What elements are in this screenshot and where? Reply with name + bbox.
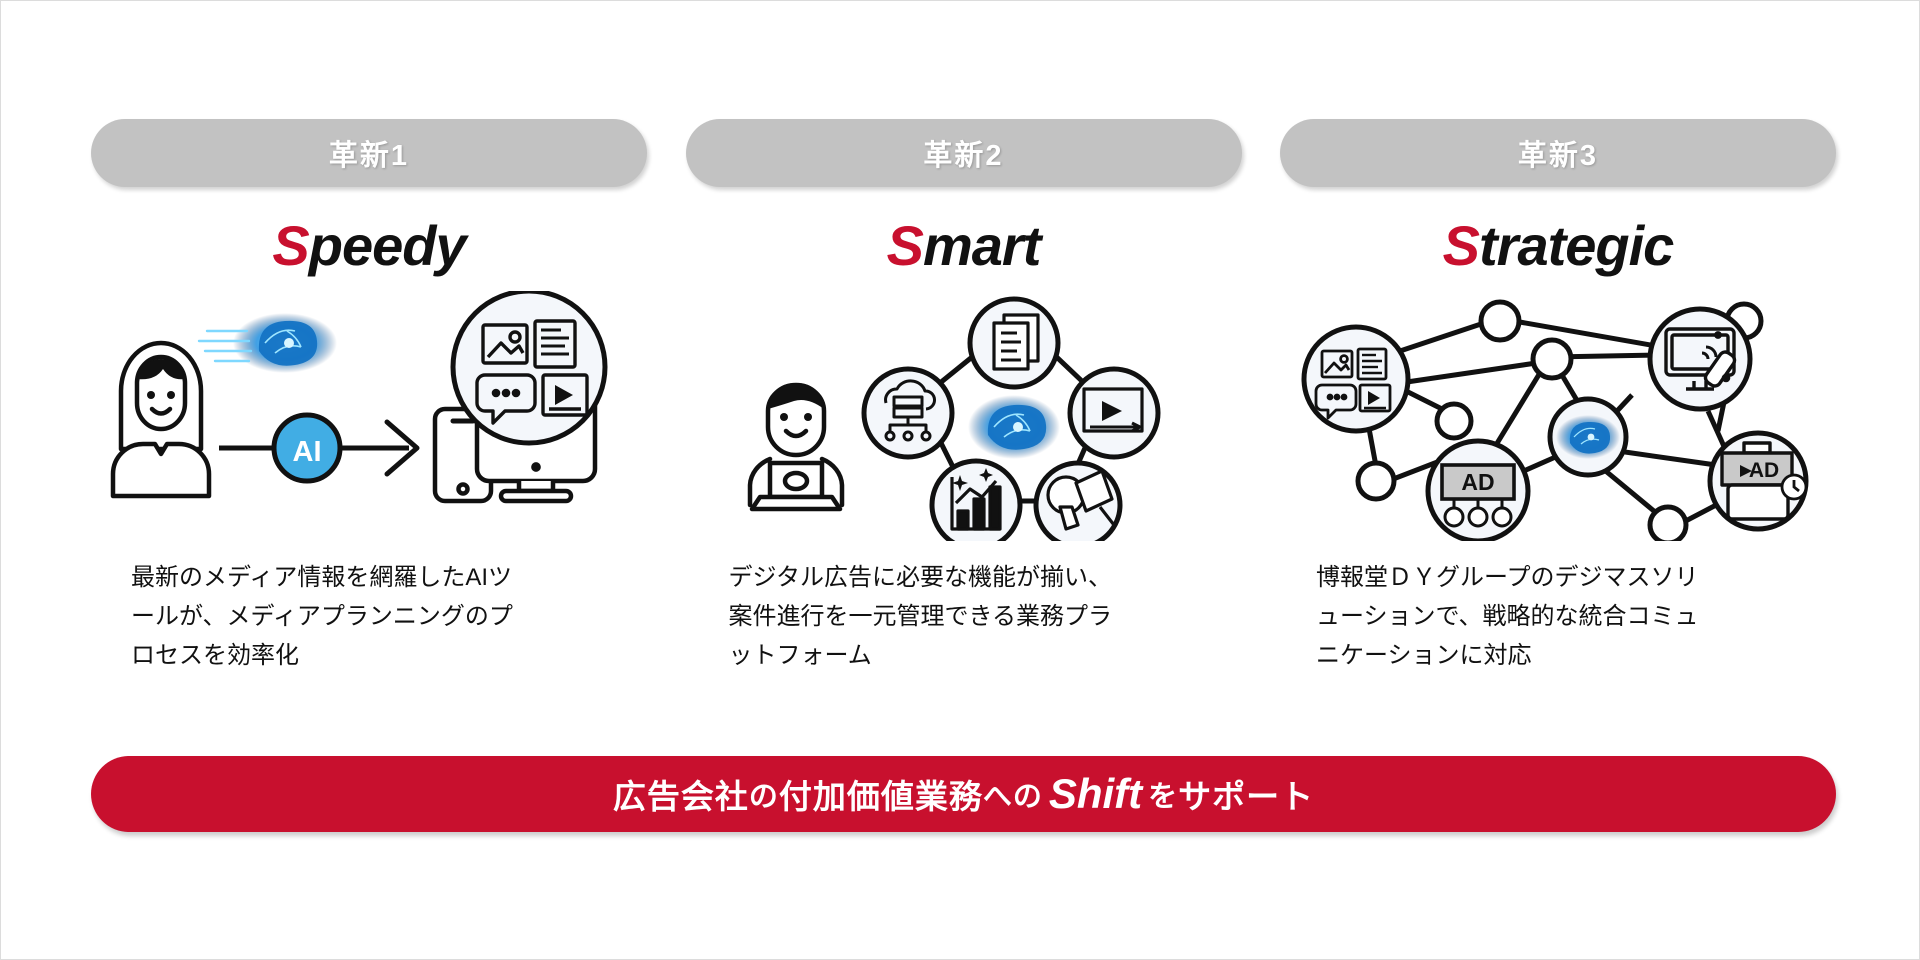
banner-particle-1: の: [749, 773, 779, 815]
slide-root: 革新1 Speedy: [0, 0, 1920, 960]
ai-brain-icon: [968, 395, 1060, 459]
media-bubble-circle: [1304, 327, 1408, 431]
ad-label: AD: [1461, 469, 1494, 495]
description-3: 博報堂ＤＹグループのデジマスソリューションで、戦略的な統合コミュニケーションに対…: [1316, 559, 1716, 676]
megaphone-icon: [1036, 463, 1120, 541]
headline-rest-2: mart: [923, 213, 1040, 278]
illustration-smart: [686, 291, 1242, 541]
badge-pill-1: 革新1: [91, 119, 647, 187]
badge-label-1: 革新1: [329, 132, 409, 174]
speedy-flow-svg: AI: [99, 291, 639, 541]
badge-pill-2: 革新2: [686, 119, 1242, 187]
bottom-banner: 広告会社の付加価値業務へのShiftをサポート: [91, 756, 1836, 832]
network-node: [1533, 340, 1571, 378]
column-smart: 革新2 Smart: [686, 119, 1242, 676]
illustration-speedy: AI: [91, 291, 647, 541]
column-speedy: 革新1 Speedy: [91, 119, 647, 676]
headline-speedy: Speedy: [272, 213, 465, 277]
person-laptop-icon: [750, 383, 842, 509]
person-icon: [113, 343, 209, 496]
strategic-network-svg: AD: [1288, 291, 1828, 541]
headline-cap-1: S: [272, 213, 308, 278]
arrow-icon: [340, 422, 417, 474]
description-2: デジタル広告に必要な機能が揃い、案件進行を一元管理できる業務プラットフォーム: [729, 559, 1129, 676]
ad-video-label: AD: [1749, 459, 1779, 482]
description-1: 最新のメディア情報を網羅したAIツールが、メディアプランニングのプロセスを効率化: [131, 559, 531, 676]
badge-pill-3: 革新3: [1280, 119, 1836, 187]
network-node: [1650, 507, 1686, 541]
media-bubble-circle: [453, 291, 605, 443]
network-node: [1358, 463, 1394, 499]
ad-banner-icon: AD: [1428, 441, 1528, 541]
illustration-strategic: AD: [1280, 291, 1836, 541]
tv-remote-icon: [1650, 309, 1750, 409]
network-node: [1481, 302, 1519, 340]
badge-label-2: 革新2: [923, 132, 1003, 174]
smart-hub-svg: [744, 291, 1184, 541]
cloud-server-icon: [864, 369, 952, 457]
banner-particle-3: を: [1148, 773, 1178, 815]
banner-mid: 付加価値業務: [779, 770, 983, 818]
headline-smart: Smart: [887, 213, 1041, 277]
ad-video-icon: AD: [1710, 433, 1806, 529]
headline-rest-3: trategic: [1479, 213, 1673, 278]
headline-cap-2: S: [887, 213, 923, 278]
network-node: [1437, 404, 1471, 438]
ai-brain-icon: [199, 313, 337, 373]
banner-tail: サポート: [1178, 770, 1314, 818]
ai-brain-circle: [1550, 399, 1626, 475]
banner-particle-2: への: [983, 773, 1043, 815]
banner-lead: 広告会社: [613, 770, 749, 818]
documents-icon: [970, 299, 1058, 387]
chart-icon: [932, 461, 1020, 541]
columns-container: 革新1 Speedy: [91, 119, 1836, 676]
headline-strategic: Strategic: [1443, 213, 1674, 277]
headline-cap-3: S: [1443, 213, 1479, 278]
badge-label-3: 革新3: [1518, 132, 1598, 174]
ai-circle: AI: [274, 415, 340, 481]
banner-shift: Shift: [1043, 770, 1148, 818]
video-icon: [1070, 369, 1158, 457]
headline-rest-1: peedy: [309, 213, 466, 278]
column-strategic: 革新3 Strategic: [1280, 119, 1836, 676]
svg-text:AI: AI: [293, 436, 322, 468]
